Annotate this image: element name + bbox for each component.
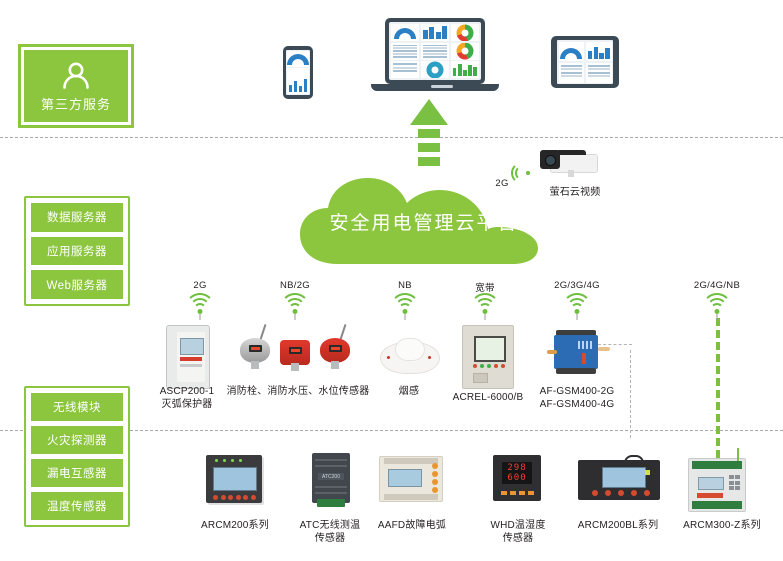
table-lines bbox=[588, 65, 610, 81]
acrel6000-panel bbox=[462, 325, 514, 389]
bar-chart-icon bbox=[423, 25, 447, 39]
dash-bars-card-2 bbox=[451, 61, 479, 78]
arcm200-meter bbox=[206, 455, 262, 503]
net-label-acrel: 宽带 bbox=[455, 280, 515, 294]
aafd-button-column bbox=[432, 463, 438, 493]
bl-key-row bbox=[592, 490, 650, 496]
arcm-key-row bbox=[213, 495, 256, 500]
device-label-gsm: AF-GSM400-2G AF-GSM400-4G bbox=[530, 385, 624, 411]
atc-rib bbox=[315, 486, 347, 488]
sensor-neck bbox=[291, 363, 299, 371]
tablet-device bbox=[551, 36, 619, 88]
net-label-gsm: 2G/3G/4G bbox=[542, 280, 612, 291]
smoke-led-left bbox=[387, 356, 390, 359]
gauge-icon bbox=[394, 28, 416, 39]
arcm-lcd bbox=[213, 467, 257, 491]
gsm-connector-line bbox=[630, 350, 631, 438]
phone-screen bbox=[286, 50, 310, 95]
signal-dot bbox=[526, 171, 530, 175]
device-label-aafd: AAFD故障电弧 bbox=[372, 519, 452, 532]
upload-arrow-seg-2 bbox=[418, 143, 440, 152]
module-chip-leakage-ct[interactable]: 漏电互感器 bbox=[31, 459, 123, 487]
whd-key-row bbox=[501, 491, 534, 495]
net-label-ascp: 2G bbox=[170, 280, 230, 291]
table-lines bbox=[393, 45, 417, 58]
af-gsm400-module bbox=[548, 330, 604, 374]
gauge-icon bbox=[287, 54, 309, 65]
module-chip-fire-detector[interactable]: 火灾探测器 bbox=[31, 426, 123, 454]
smoke-dome bbox=[395, 338, 425, 361]
z300-antenna bbox=[737, 448, 739, 461]
gsm-antenna-right bbox=[598, 347, 610, 351]
gsm-sim-slot bbox=[582, 353, 586, 364]
ascp200-device bbox=[166, 325, 210, 389]
device-label-acrel: ACREL-6000/B bbox=[450, 391, 526, 404]
third-party-label: 第三方服务 bbox=[41, 94, 111, 113]
whd-display: 298 600 bbox=[502, 462, 532, 484]
pie-chart-icon bbox=[426, 61, 443, 78]
aafd-lcd bbox=[388, 469, 422, 487]
acrel-indicator-row bbox=[473, 364, 505, 368]
server-chip-web[interactable]: Web服务器 bbox=[31, 270, 123, 299]
phone-bars-card bbox=[287, 68, 309, 94]
bar-chart-icon bbox=[588, 45, 610, 59]
wifi-icon-gsm bbox=[562, 293, 592, 319]
atc-rib bbox=[315, 459, 347, 461]
net-label-arcm300: 2G/4G/NB bbox=[682, 280, 752, 291]
device-label-whd: WHD温湿度 传感器 bbox=[476, 519, 560, 545]
wifi-icon-fire bbox=[280, 293, 310, 319]
cloud-platform[interactable]: 安全用电管理云平台 bbox=[298, 176, 550, 266]
atc-rib bbox=[315, 492, 347, 494]
arcm300z-device bbox=[688, 458, 746, 512]
third-party-inner: 第三方服务 bbox=[24, 50, 128, 122]
dash-table-card-1 bbox=[391, 43, 419, 60]
laptop-device bbox=[385, 18, 485, 94]
module-chip-wireless[interactable]: 无线模块 bbox=[31, 393, 123, 421]
whd-value-top: 298 bbox=[507, 464, 526, 473]
antenna bbox=[340, 324, 347, 340]
sensor-neck bbox=[251, 361, 259, 369]
tablet-bars-card bbox=[586, 42, 612, 62]
sensor-display bbox=[249, 345, 262, 352]
hydrant-sensor bbox=[240, 330, 270, 368]
ascp-button-row bbox=[180, 357, 202, 361]
device-label-fire-sensors: 消防栓、消防水压、水位传感器 bbox=[218, 385, 378, 398]
line-chart-icon bbox=[393, 63, 417, 76]
third-party-service-card[interactable]: 第三方服务 bbox=[18, 44, 134, 128]
bl-status-led bbox=[645, 470, 650, 475]
dash-donut-card-2 bbox=[451, 43, 479, 60]
camera-lens bbox=[540, 150, 560, 169]
tablet-screen bbox=[557, 40, 613, 84]
acrel-screen bbox=[474, 336, 506, 362]
sensor-neck bbox=[331, 361, 339, 369]
aafd-din-rail-top bbox=[384, 458, 438, 464]
arcm300-wireless-line bbox=[716, 318, 720, 458]
laptop-trackpad bbox=[431, 85, 453, 88]
laptop-dashboard bbox=[389, 22, 481, 80]
camera-mount bbox=[568, 170, 574, 177]
person-icon bbox=[59, 59, 93, 93]
smartphone-device bbox=[283, 46, 313, 99]
tablet-table-card bbox=[559, 63, 585, 83]
tablet-gauge-card bbox=[559, 42, 585, 62]
aafd-arc-fault-device bbox=[379, 456, 443, 502]
sensor-display bbox=[329, 345, 342, 352]
dash-bars-card bbox=[421, 24, 449, 41]
aafd-din-rail-bottom bbox=[384, 494, 438, 500]
device-label-ascp: ASCP200-1 灭弧保护器 bbox=[145, 385, 229, 411]
whd-value-bottom: 600 bbox=[507, 474, 526, 483]
divider-top bbox=[0, 137, 783, 138]
gsm-antenna-left bbox=[547, 350, 557, 354]
upload-arrow-seg-3 bbox=[418, 157, 440, 166]
atc-model-label: ATC200 bbox=[318, 473, 344, 480]
donut-chart-icon bbox=[456, 24, 473, 41]
device-label-atc: ATC无线测温 传感器 bbox=[288, 519, 372, 545]
tablet-table-card-2 bbox=[586, 63, 612, 83]
whd-temp-humidity-sensor: 298 600 bbox=[493, 455, 541, 501]
dash-donut-card-1 bbox=[451, 24, 479, 41]
cloud-platform-label: 安全用电管理云平台 bbox=[298, 176, 550, 266]
z300-label-strip bbox=[697, 493, 723, 498]
device-label-smoke: 烟感 bbox=[379, 385, 439, 398]
gsm-led-row bbox=[578, 341, 592, 349]
ascp-button-row-2 bbox=[180, 364, 202, 367]
antenna bbox=[260, 324, 267, 340]
z300-keypad bbox=[729, 475, 741, 490]
arcm200bl-device bbox=[578, 460, 660, 500]
dash-table-card-2 bbox=[421, 43, 449, 60]
bar-chart-icon bbox=[453, 62, 477, 76]
water-pressure-sensor bbox=[280, 332, 310, 370]
bl-lcd bbox=[602, 467, 646, 488]
sensor-display bbox=[289, 347, 302, 354]
donut-chart-icon bbox=[456, 43, 473, 60]
wifi-icon-ascp bbox=[185, 293, 215, 319]
smoke-led-right bbox=[428, 356, 431, 359]
module-chip-temp-sensor[interactable]: 温度传感器 bbox=[31, 492, 123, 520]
bl-cord bbox=[624, 455, 644, 463]
water-level-sensor bbox=[320, 330, 350, 368]
device-label-arcm200bl: ARCM200BL系列 bbox=[565, 519, 671, 532]
server-panel: 数据服务器 应用服务器 Web服务器 bbox=[24, 196, 130, 306]
laptop-screen bbox=[385, 18, 485, 84]
smoke-detector bbox=[380, 336, 438, 376]
dash-line-card bbox=[391, 61, 419, 78]
atc-rib bbox=[315, 465, 347, 467]
net-label-smoke: NB bbox=[375, 280, 435, 291]
phone-gauge-card bbox=[287, 51, 309, 67]
atc-terminal-block bbox=[317, 499, 345, 507]
upload-arrow-seg-1 bbox=[418, 129, 440, 138]
upload-arrow-head bbox=[410, 99, 448, 125]
arcm-led-row bbox=[213, 459, 255, 464]
server-chip-app[interactable]: 应用服务器 bbox=[31, 237, 123, 266]
dash-pie-card bbox=[421, 61, 449, 78]
net-label-fire: NB/2G bbox=[265, 280, 325, 291]
dash-gauge-card bbox=[391, 24, 419, 41]
table-lines bbox=[423, 45, 447, 58]
device-label-arcm300z: ARCM300-Z系列 bbox=[672, 519, 772, 532]
z300-lcd bbox=[698, 477, 724, 490]
wifi-icon-smoke bbox=[390, 293, 420, 319]
server-chip-data[interactable]: 数据服务器 bbox=[31, 203, 123, 232]
gsm-din-clip-bottom bbox=[556, 368, 596, 374]
camera-sunshade bbox=[556, 150, 586, 155]
acrel-door bbox=[473, 373, 488, 383]
wifi-icon-arcm300 bbox=[702, 293, 732, 319]
bar-chart-icon bbox=[289, 78, 307, 92]
table-lines bbox=[561, 65, 583, 81]
wifi-icon-acrel bbox=[470, 293, 500, 319]
z300-terminal-top bbox=[692, 461, 742, 469]
ascp-lcd bbox=[180, 338, 204, 355]
atc-temp-sensor: ATC200 bbox=[312, 453, 350, 503]
module-panel: 无线模块 火灾探测器 漏电互感器 温度传感器 bbox=[24, 386, 130, 527]
gauge-icon bbox=[560, 48, 582, 59]
z300-terminal-bottom bbox=[692, 501, 742, 509]
device-label-arcm200: ARCM200系列 bbox=[190, 519, 280, 532]
